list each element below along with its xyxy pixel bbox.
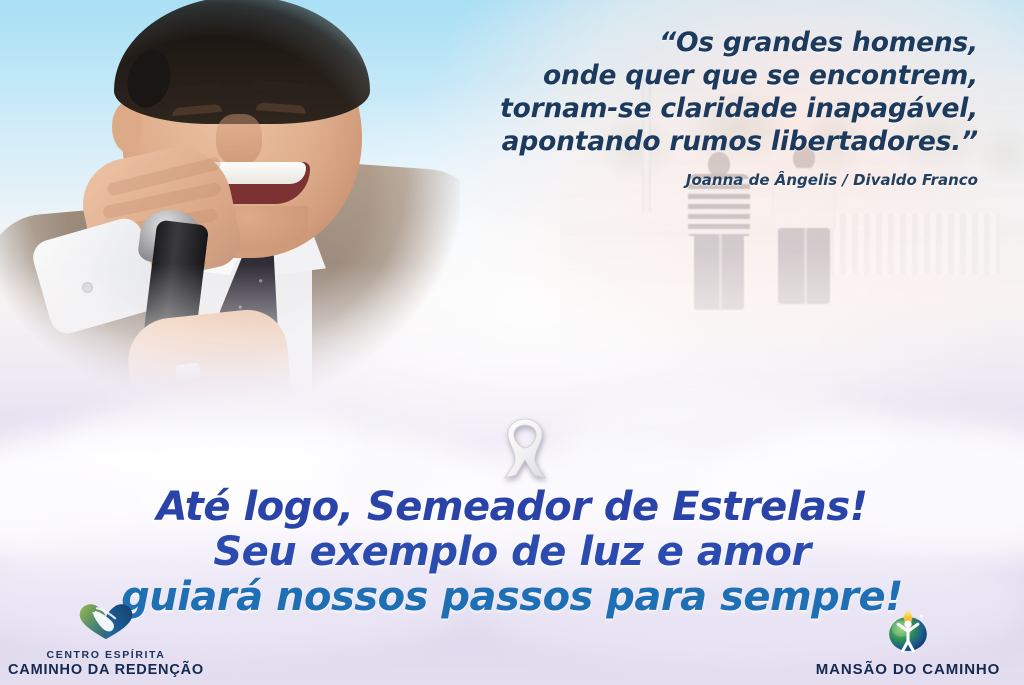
quote-line-1: “Os grandes homens, (418, 26, 978, 59)
nose (216, 114, 262, 166)
quote-line-3: tornam-se claridade inapagável, (418, 92, 978, 125)
white-ribbon-icon (494, 414, 556, 480)
background-fence (810, 214, 1000, 274)
clasped-hands-heart-icon (6, 601, 206, 646)
memorial-poster: “Os grandes homens, onde quer que se enc… (0, 0, 1024, 685)
headline-line-1: Até logo, Semeador de Estrelas! (0, 485, 1024, 530)
globe-figure-flame-icon (798, 606, 1018, 658)
logo-right-line-1: MANSÃO DO CAMINHO (798, 661, 1018, 679)
quote-line-4: apontando rumos libertadores.” (418, 125, 978, 158)
figure-legs (694, 234, 744, 310)
logo-left-line-1: CENTRO ESPÍRITA (6, 649, 206, 662)
portrait-divaldo-franco (0, 0, 460, 434)
headline-line-2: Seu exemplo de luz e amor (0, 530, 1024, 575)
logo-left-line-2: CAMINHO DA REDENÇÃO (6, 662, 206, 679)
cloud (560, 393, 900, 489)
quote-attribution: Joanna de Ângelis / Divaldo Franco (418, 171, 978, 189)
logo-centro-espirita: CENTRO ESPÍRITA CAMINHO DA REDENÇÃO (6, 601, 206, 679)
portrait-bottom-fade (0, 264, 460, 434)
hair (114, 0, 370, 124)
quote-line-2: onde quer que se encontrem, (418, 59, 978, 92)
quote-block: “Os grandes homens, onde quer que se enc… (418, 26, 978, 189)
figure-legs (778, 228, 830, 304)
headline-block: Até logo, Semeador de Estrelas! Seu exem… (0, 485, 1024, 620)
logo-mansao-do-caminho: MANSÃO DO CAMINHO (798, 606, 1018, 679)
